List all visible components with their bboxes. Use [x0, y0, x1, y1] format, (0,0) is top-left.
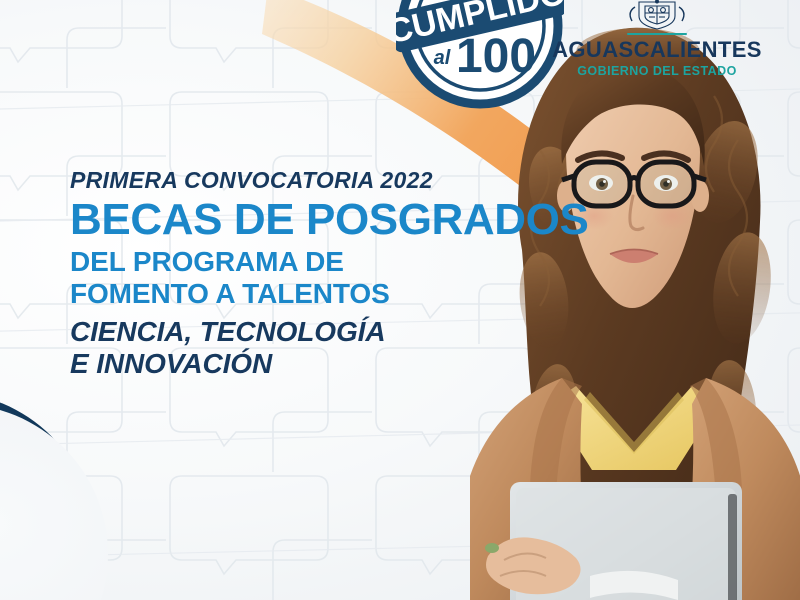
coat-of-arms-icon: [618, 0, 696, 30]
headline-block: PRIMERA CONVOCATORIA 2022 BECAS DE POSGR…: [70, 168, 590, 380]
subtitle-line-2: DEL PROGRAMA DE: [70, 246, 590, 277]
government-logo: AGUASCALIENTES GOBIERNO DEL ESTADO: [552, 0, 762, 78]
subtitle-line-4: CIENCIA, TECNOLOGÍA: [70, 316, 590, 348]
cumplido-al-100-seal: CUMPLIDO al 100: [396, 0, 564, 110]
poster-canvas: AGUASCALIENTES GOBIERNO DEL ESTADO CUMPL…: [0, 0, 800, 600]
logo-divider: [627, 33, 687, 35]
state-subtitle: GOBIERNO DEL ESTADO: [552, 65, 762, 78]
state-name: AGUASCALIENTES: [552, 39, 762, 61]
subtitle-line-5: E INNOVACIÓN: [70, 348, 590, 380]
stamp-number: 100: [456, 30, 536, 83]
subtitle-line-3: FOMENTO A TALENTOS: [70, 278, 590, 309]
kicker-text: PRIMERA CONVOCATORIA 2022: [70, 168, 590, 192]
stamp-al: al: [434, 47, 451, 69]
page-title: BECAS DE POSGRADOS: [70, 198, 590, 241]
